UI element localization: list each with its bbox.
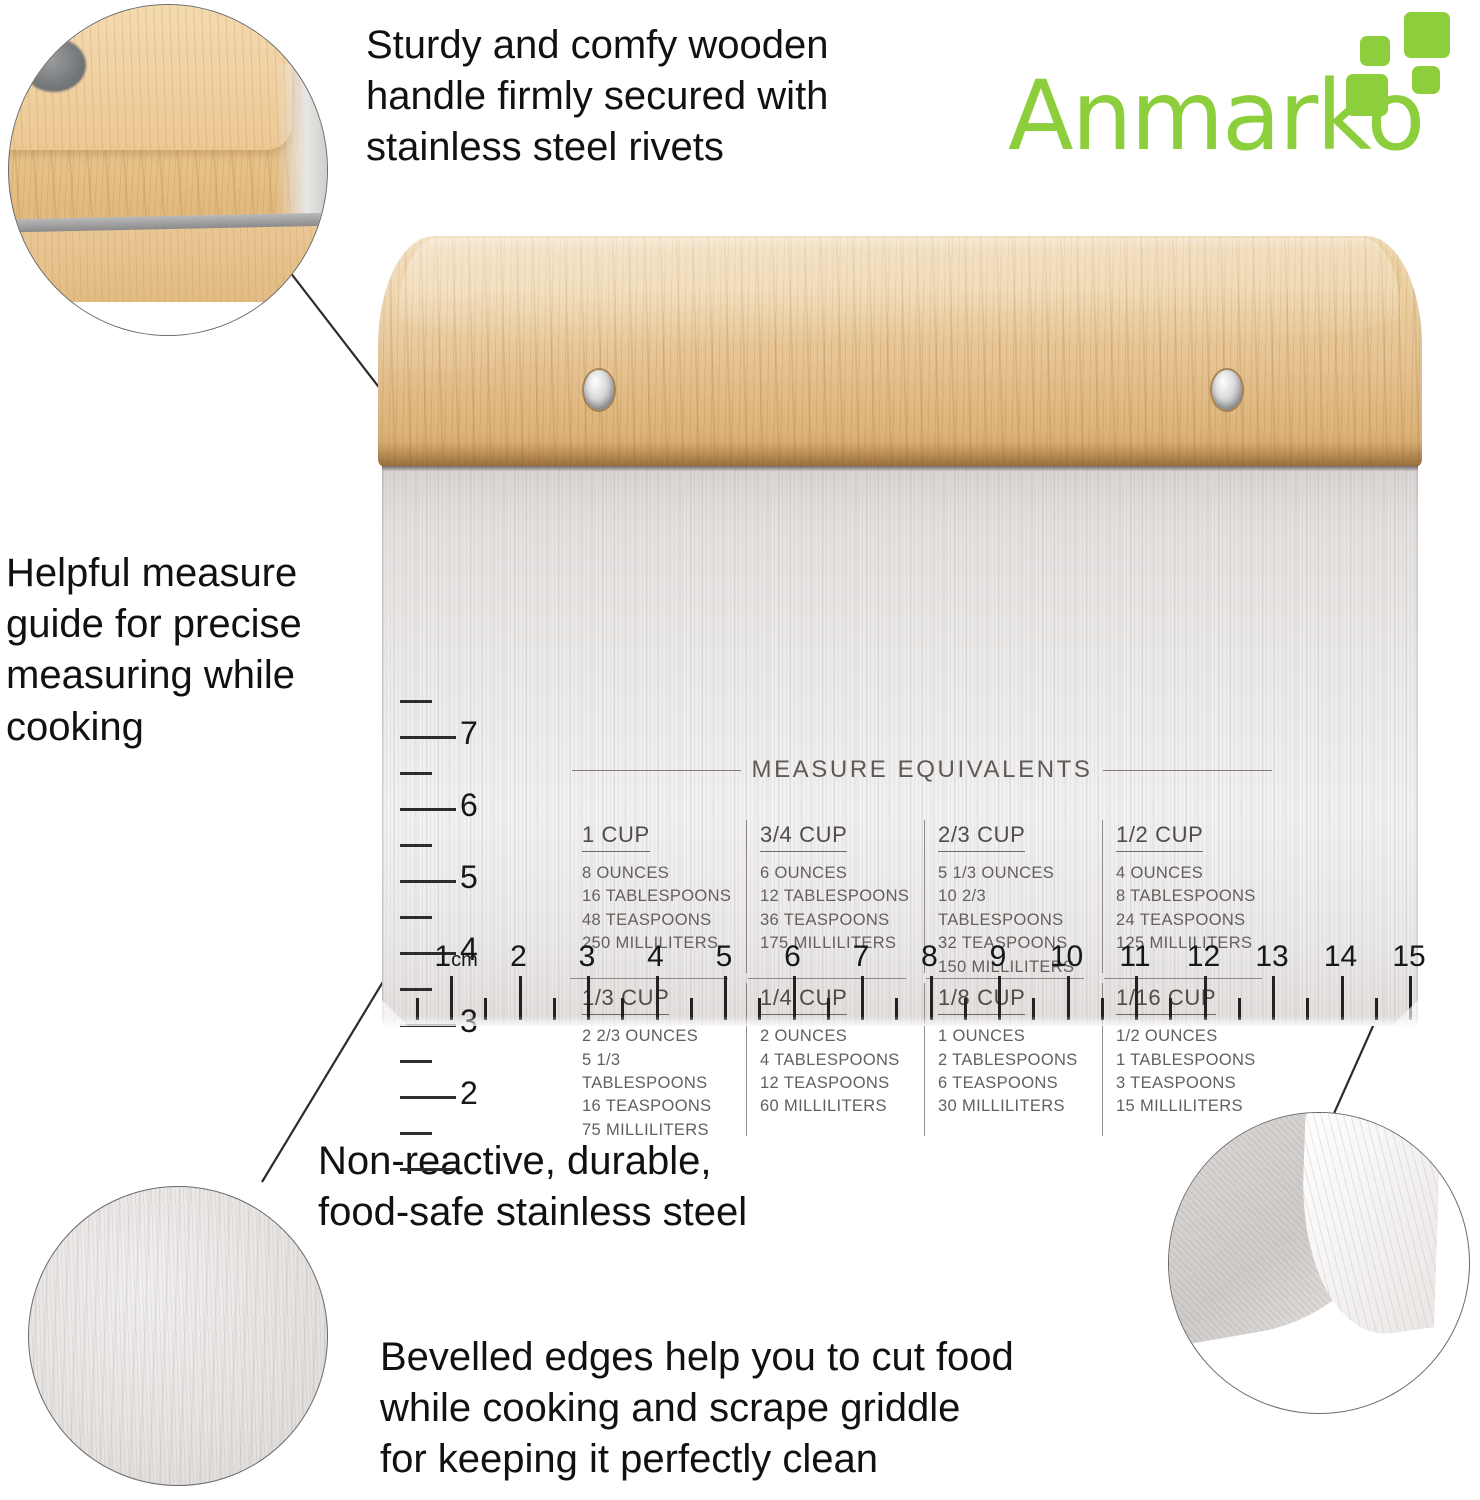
inset-brushed-steel-closeup xyxy=(28,1186,328,1486)
equivalent-title: 1 CUP xyxy=(582,822,650,852)
equivalent-line: 6 TEASPOONS xyxy=(938,1072,1102,1095)
product-infographic: Sturdy and comfy wooden handle firmly se… xyxy=(0,0,1480,1500)
inset-rivet-shadow xyxy=(22,38,86,92)
stainless-steel-blade: MEASURE EQUIVALENTS 1 CUP 8 OUNCES 16 TA… xyxy=(382,466,1418,1026)
cm-tick-major xyxy=(930,976,933,1020)
cm-tick-major xyxy=(1135,976,1138,1020)
equivalent-line: 1 TABLESPOONS xyxy=(1116,1049,1280,1072)
equivalent-line: 4 TABLESPOONS xyxy=(760,1049,924,1072)
inch-tick-label: 2 xyxy=(460,1075,478,1112)
inch-tick-minor xyxy=(400,772,432,775)
callout-handle-text: Sturdy and comfy wooden handle firmly se… xyxy=(366,20,966,174)
callout-bevelled-edges-text: Bevelled edges help you to cut food whil… xyxy=(380,1332,1210,1486)
equivalent-line: 3 TEASPOONS xyxy=(1116,1072,1280,1095)
equivalent-line: 2 2/3 OUNCES xyxy=(582,1025,746,1048)
inch-tick-minor xyxy=(400,916,432,919)
cm-tick-label: 4 xyxy=(647,940,664,974)
cm-tick-label: 10 xyxy=(1050,940,1083,974)
inch-tick-major xyxy=(400,808,456,811)
rivet-left xyxy=(584,370,614,410)
inch-tick-major xyxy=(400,880,456,883)
cm-ruler: 1cm23456789101112131415 xyxy=(382,934,1418,1026)
equivalent-line: 4 OUNCES xyxy=(1116,862,1280,885)
equivalent-line: 15 MILLILITERS xyxy=(1116,1095,1280,1118)
cm-tick-label: 14 xyxy=(1324,940,1357,974)
etched-title-text: MEASURE EQUIVALENTS xyxy=(751,756,1092,784)
equivalent-line: 5 1/3 TABLESPOONS xyxy=(582,1049,746,1096)
equivalent-line: 1 OUNCES xyxy=(938,1025,1102,1048)
inset-bevel-facet xyxy=(1297,1112,1442,1346)
cm-tick-label: 12 xyxy=(1187,940,1220,974)
inch-tick-minor xyxy=(400,700,432,703)
cm-tick-major xyxy=(1067,976,1070,1020)
cm-tick-label: 8 xyxy=(921,940,938,974)
equivalent-title: 3/4 CUP xyxy=(760,822,847,852)
cm-tick-label: 6 xyxy=(784,940,801,974)
cm-tick-major xyxy=(724,976,727,1020)
cm-tick-major xyxy=(1272,976,1275,1020)
cm-tick-label: 11 xyxy=(1119,940,1150,974)
cm-tick-label: 2 xyxy=(510,940,527,974)
rivet-right xyxy=(1212,370,1242,410)
equivalent-line: 12 TABLESPOONS xyxy=(760,885,924,908)
cm-tick-major xyxy=(1204,976,1207,1020)
cm-tick-major xyxy=(1341,976,1344,1020)
equivalent-line: 60 MILLILITERS xyxy=(760,1095,924,1118)
inset-handle-closeup xyxy=(8,4,328,336)
dough-scraper-product: MEASURE EQUIVALENTS 1 CUP 8 OUNCES 16 TA… xyxy=(378,236,1422,1026)
equivalent-line: 24 TEASPOONS xyxy=(1116,909,1280,932)
equivalent-line: 8 OUNCES xyxy=(582,862,746,885)
callout-measure-guide-text: Helpful measure guide for precise measur… xyxy=(6,548,386,753)
logo-square-1 xyxy=(1404,12,1450,58)
cm-tick-major xyxy=(861,976,864,1020)
equivalent-line: 75 MILLILITERS xyxy=(582,1119,746,1142)
equivalent-line: 8 TABLESPOONS xyxy=(1116,885,1280,908)
inch-tick-minor xyxy=(400,1060,432,1063)
etched-title: MEASURE EQUIVALENTS xyxy=(572,756,1272,784)
equivalent-line: 2 TABLESPOONS xyxy=(938,1049,1102,1072)
equivalent-title: 2/3 CUP xyxy=(938,822,1025,852)
inset-steel-side xyxy=(276,64,327,236)
cm-tick-label: 7 xyxy=(853,940,870,974)
cm-tick-major xyxy=(998,976,1001,1020)
equivalent-title: 1/2 CUP xyxy=(1116,822,1203,852)
equivalent-line: 2 OUNCES xyxy=(760,1025,924,1048)
title-rule-right xyxy=(1103,770,1272,771)
equivalent-line: 5 1/3 OUNCES xyxy=(938,862,1102,885)
cm-tick-major xyxy=(656,976,659,1020)
cm-tick-label: 3 xyxy=(579,940,596,974)
cm-tick-label: 1cm xyxy=(434,940,477,974)
equivalent-line: 30 MILLILITERS xyxy=(938,1095,1102,1118)
wooden-handle xyxy=(378,236,1422,468)
inch-tick-label: 6 xyxy=(460,787,478,824)
cm-tick-major xyxy=(587,976,590,1020)
equivalent-line: 16 TEASPOONS xyxy=(582,1095,746,1118)
inch-tick-minor xyxy=(400,1132,432,1135)
equivalent-line: 12 TEASPOONS xyxy=(760,1072,924,1095)
equivalent-line: 6 OUNCES xyxy=(760,862,924,885)
cm-tick-major xyxy=(519,976,522,1020)
equivalent-line: 10 2/3 TABLESPOONS xyxy=(938,885,1102,932)
cm-tick-label: 15 xyxy=(1392,940,1425,974)
title-rule-left xyxy=(572,770,741,771)
logo-square-2 xyxy=(1360,36,1390,66)
inch-tick-major xyxy=(400,1096,456,1099)
logo-square-3 xyxy=(1412,66,1440,94)
inch-tick-minor xyxy=(400,844,432,847)
equivalent-line: 48 TEASPOONS xyxy=(582,909,746,932)
inch-tick-label: 7 xyxy=(460,715,478,752)
cm-tick-major xyxy=(793,976,796,1020)
cm-tick-label: 13 xyxy=(1255,940,1288,974)
inch-tick-major xyxy=(400,736,456,739)
inch-tick-major xyxy=(400,1168,456,1171)
cm-tick-label: 9 xyxy=(990,940,1007,974)
cm-tick-major xyxy=(450,976,453,1020)
equivalent-line: 1/2 OUNCES xyxy=(1116,1025,1280,1048)
inset-bevelled-edge-closeup xyxy=(1168,1112,1470,1414)
inch-tick-label: 5 xyxy=(460,859,478,896)
blade-bottom-edge xyxy=(382,1016,1418,1026)
logo-square-4 xyxy=(1346,74,1388,116)
brand-logo: Anmarko xyxy=(1008,8,1468,178)
cm-tick-label: 5 xyxy=(716,940,733,974)
equivalent-line: 36 TEASPOONS xyxy=(760,909,924,932)
equivalent-line: 16 TABLESPOONS xyxy=(582,885,746,908)
inset-white-base xyxy=(8,302,328,336)
